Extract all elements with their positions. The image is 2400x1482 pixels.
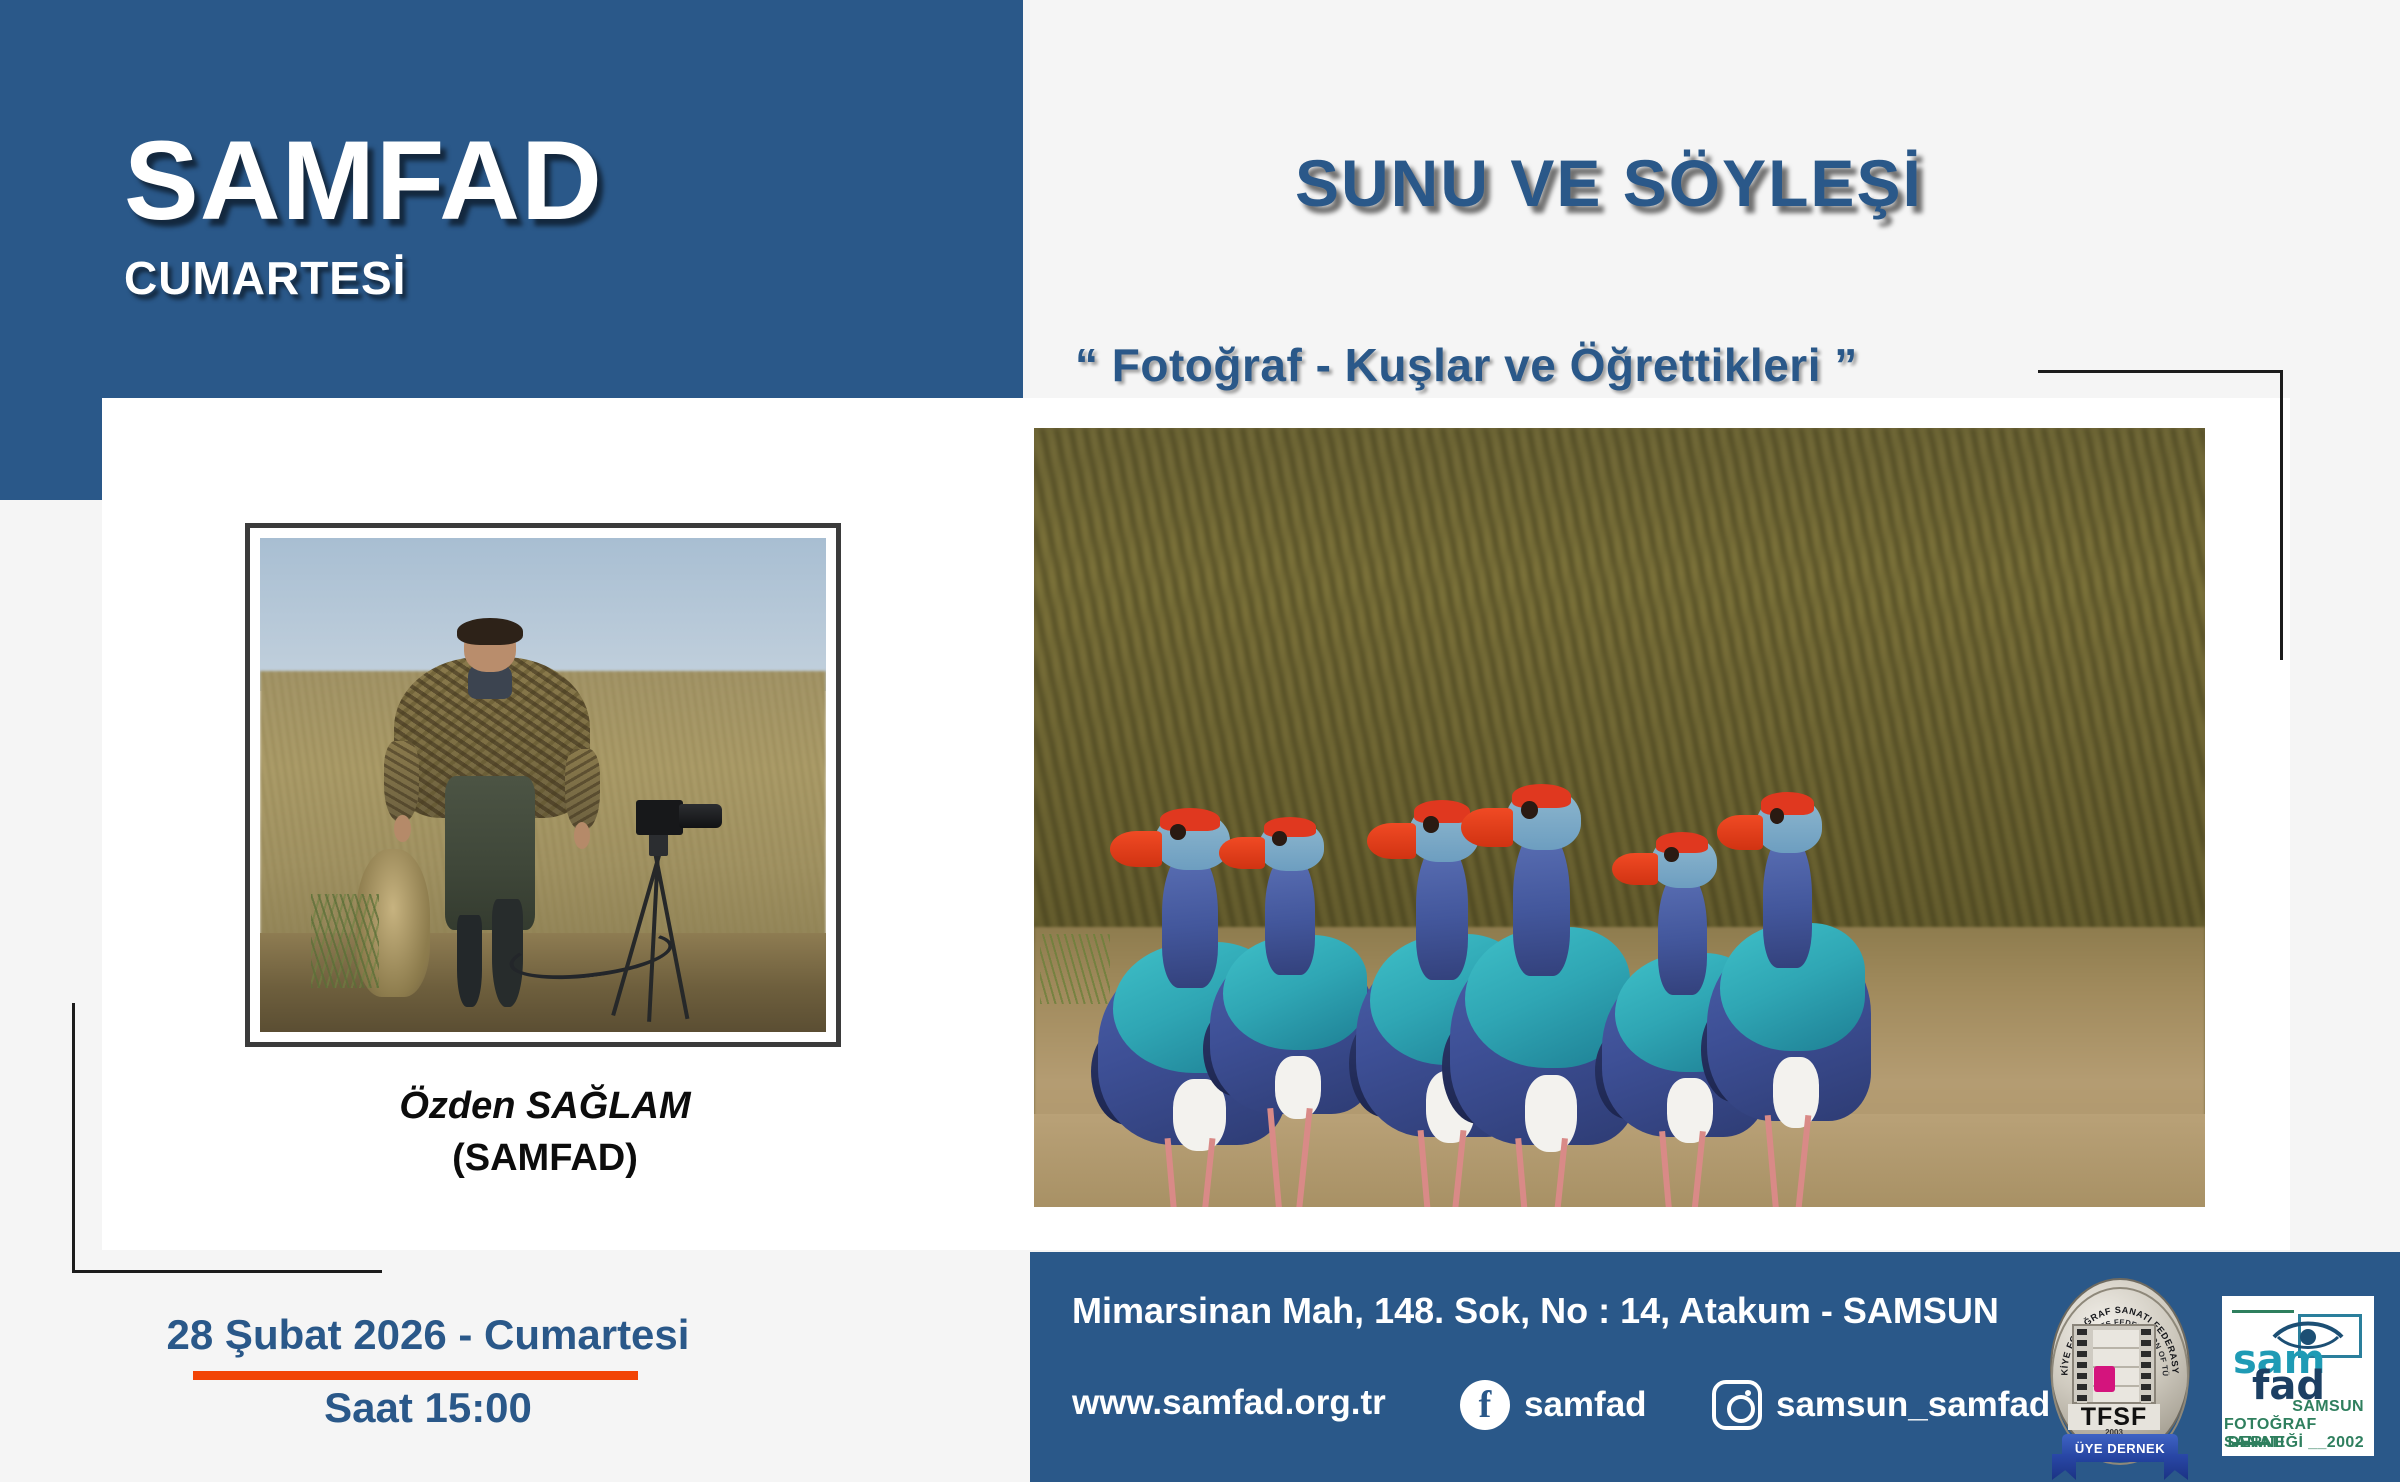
swamphen-undertail [1773,1057,1819,1127]
facebook-icon[interactable]: f [1460,1380,1510,1430]
tripod-leg [647,852,660,1022]
figure-hair [457,618,522,645]
samfad-logo-rule-bottom [2232,1442,2270,1445]
facebook-link[interactable]: f samfad [1460,1380,1647,1430]
samfad-logo-rule-top [2232,1310,2294,1313]
brand-weekday: CUMARTESİ [124,255,603,301]
page-subtitle: “ Fotoğraf - Kuşlar ve Öğrettikleri ” [1075,338,1858,392]
swamphen-neck [1658,871,1707,995]
figure-boot-left [457,915,481,1007]
brand-wordmark: SAMFAD CUMARTESİ [124,125,603,301]
swamphen-eye [1521,801,1538,819]
swamphen-beak [1461,808,1513,847]
swamphen-eye [1423,816,1439,832]
tfsf-puzzle-piece-pink [2094,1366,2115,1392]
swamphen-beak [1110,831,1162,867]
figure-right-hand [574,822,590,849]
speaker-photo-frame [245,523,841,1047]
photo-grass-tuft [311,894,379,988]
tfsf-film-strip [2072,1324,2156,1404]
poster-canvas: SAMFAD CUMARTESİ SUNU VE SÖYLEŞİ “ Fotoğ… [0,0,2400,1482]
footer-website[interactable]: www.samfad.org.tr [1072,1383,1386,1423]
swamphen-neck [1763,834,1812,968]
swamphen-crown [1264,817,1316,837]
speaker-name: Özden SAĞLAM [245,1085,845,1128]
brand-name: SAMFAD [124,125,603,237]
swamphen-undertail [1525,1075,1577,1152]
figure-left-arm [384,741,419,822]
swamphen [1707,802,1871,1121]
swamphen-beak [1367,823,1416,859]
swamphen-crown [1656,832,1708,853]
swamphen-eye [1272,831,1287,845]
swamphen-neck [1265,854,1314,975]
swamphen-undertail [1275,1056,1321,1119]
instagram-handle: samsun_samfad [1776,1385,2050,1425]
swamphen-beak [1717,815,1763,850]
tfsf-ribbon: ÜYE DERNEK [2062,1434,2178,1462]
swamphen-beak [1612,853,1658,886]
samfad-logo: sam fad SAMSUN FOTOĞRAF SANATI DERNEĞİ _… [2222,1296,2374,1456]
photo-tripod-camera [622,800,735,1017]
camera-lens [679,804,722,828]
event-date-underline [193,1371,638,1380]
main-photo [1034,428,2205,1207]
tfsf-name: TFSF [2068,1404,2160,1430]
swamphen-eye [1664,847,1679,862]
event-time: Saat 15:00 [128,1384,728,1432]
camera-body [636,800,684,835]
figure-left-hand [394,815,410,842]
page-title: SUNU VE SÖYLEŞİ [1295,145,1923,221]
event-date: 28 Şubat 2026 - Cumartesi [128,1311,728,1359]
swamphen-neck [1513,829,1569,976]
samfad-logo-line1: SAMSUN [2292,1398,2364,1416]
swamphen-crown [1761,792,1813,814]
tripod-head [649,832,667,856]
footer-address: Mimarsinan Mah, 148. Sok, No : 14, Ataku… [1072,1290,1999,1332]
speaker-organization: (SAMFAD) [245,1137,845,1180]
facebook-handle: samfad [1524,1385,1647,1425]
tfsf-seal: TÜRKİYE FOTOĞRAF SANATI FEDERASYONU PHOT… [2042,1278,2198,1474]
instagram-link[interactable]: samsun_samfad [1712,1380,2050,1430]
instagram-icon[interactable] [1712,1380,1762,1430]
tfsf-ribbon-label: ÜYE DERNEK [2075,1441,2165,1456]
figure-right-arm [565,749,600,830]
swamphen-beak [1219,837,1265,869]
speaker-photo [260,538,826,1032]
swamphen-crown [1512,784,1572,809]
